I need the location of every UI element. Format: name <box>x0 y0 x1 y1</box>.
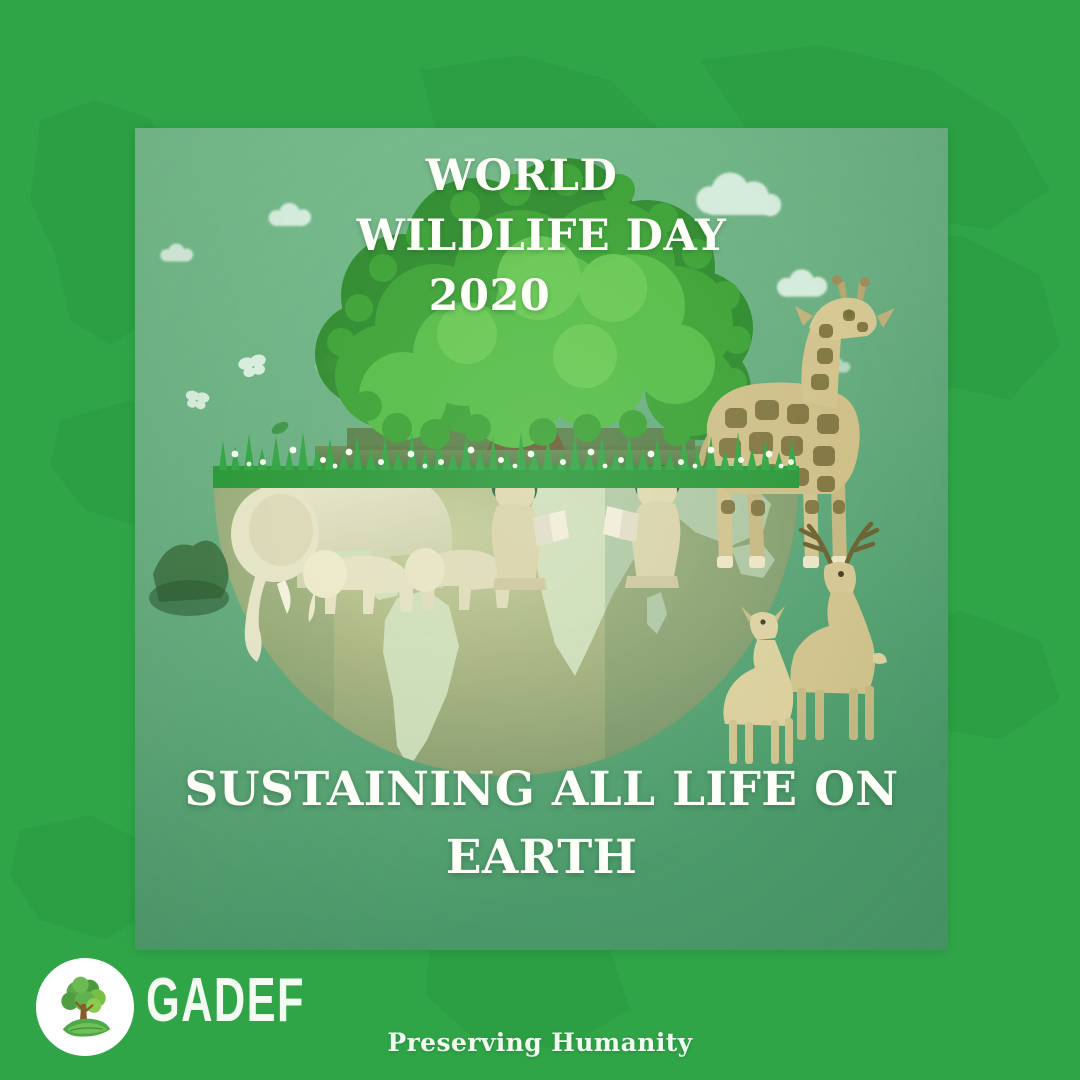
headline-line-2: WILDLIFE DAY <box>135 206 948 266</box>
footer-branding: GADEF <box>0 950 1080 1080</box>
headline-line-3: 2020 <box>135 266 948 326</box>
brand-wordmark: GADEF <box>146 970 305 1032</box>
tagline-line-1: SUSTAINING ALL LIFE ON <box>135 756 948 824</box>
brand-tagline: Preserving Humanity <box>0 1028 1080 1057</box>
poster-tagline: SUSTAINING ALL LIFE ON EARTH <box>135 756 948 892</box>
poster-canvas: WORLD WILDLIFE DAY 2020 SUSTAINING ALL L… <box>0 0 1080 1080</box>
headline-line-1: WORLD <box>135 146 948 206</box>
artwork-panel: WORLD WILDLIFE DAY 2020 SUSTAINING ALL L… <box>135 128 948 950</box>
poster-headline: WORLD WILDLIFE DAY 2020 <box>135 146 948 326</box>
tagline-line-2: EARTH <box>135 824 948 892</box>
